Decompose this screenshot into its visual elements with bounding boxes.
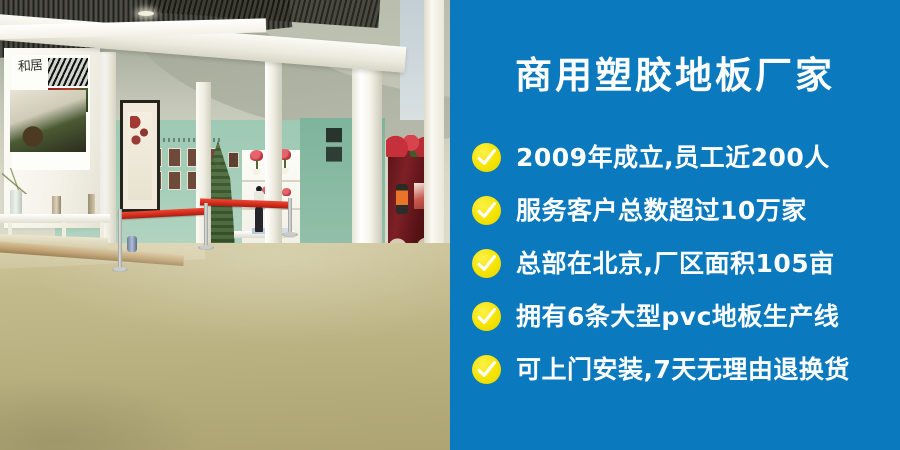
list-item: 拥有6条大型pvc地板生产线 (472, 290, 900, 343)
floor-reflection-sheen (0, 243, 450, 450)
left-display-table (0, 214, 110, 223)
check-circle-icon (472, 355, 501, 384)
check-circle-icon (472, 249, 501, 278)
barrier-stanchion (288, 198, 292, 234)
list-item: 总部在北京,厂区面积105亩 (472, 237, 900, 290)
orange-mannequin-figure (396, 184, 408, 214)
list-item: 2009年成立,员工近200人 (472, 131, 900, 184)
list-item-label: 可上门安装,7天无理由退换货 (516, 357, 850, 382)
list-item-label: 2009年成立,员工近200人 (516, 145, 830, 170)
glass-vase (10, 190, 22, 216)
poster-photo-lines (48, 58, 88, 86)
poster-photo-ikebana (10, 90, 86, 152)
list-item-label: 总部在北京,厂区面积105亩 (516, 251, 835, 276)
barrier-stanchion (204, 203, 208, 247)
list-item-label: 拥有6条大型pvc地板生产线 (516, 304, 839, 329)
bouquet-stem (284, 159, 286, 169)
wall-calligraphy-scroll (326, 128, 342, 174)
bouquet-stem (256, 160, 258, 170)
framed-artwork-small (228, 152, 239, 168)
framed-artwork (168, 148, 182, 167)
promo-banner: 和居 商用塑胶地板厂家 (0, 0, 900, 450)
page-title: 商用塑胶地板厂家 (450, 57, 900, 94)
barrier-stanchion-base (112, 267, 128, 272)
blue-floor-vase (127, 236, 137, 252)
tall-frame-artwork (130, 116, 150, 146)
ceramic-vase (88, 194, 95, 216)
barrier-stanchion (118, 209, 122, 269)
framed-artwork (168, 171, 182, 190)
visitor-figure (255, 206, 263, 232)
showroom-photo: 和居 (0, 0, 450, 450)
structural-column-middle (265, 56, 282, 274)
list-item: 服务客户总数超过10万家 (472, 184, 900, 237)
poster-calligraphy-text: 和居 (18, 59, 43, 74)
red-bouquet (282, 188, 291, 196)
list-item-label: 服务客户总数超过10万家 (516, 198, 807, 223)
blue-info-panel: 商用塑胶地板厂家 2009年成立,员工近200人 服务客户总数超过10万家 (450, 0, 900, 450)
ceramic-vase (52, 196, 61, 216)
check-circle-icon (472, 196, 501, 225)
barrier-stanchion-base (282, 232, 298, 237)
feature-list: 2009年成立,员工近200人 服务客户总数超过10万家 总部在北京,厂区面积1… (472, 131, 900, 396)
check-circle-icon (472, 143, 501, 172)
check-circle-icon (472, 302, 501, 331)
barrier-stanchion-base (198, 245, 214, 250)
ceiling-spotlight-icon (138, 11, 154, 16)
list-item: 可上门安装,7天无理由退换货 (472, 343, 900, 396)
